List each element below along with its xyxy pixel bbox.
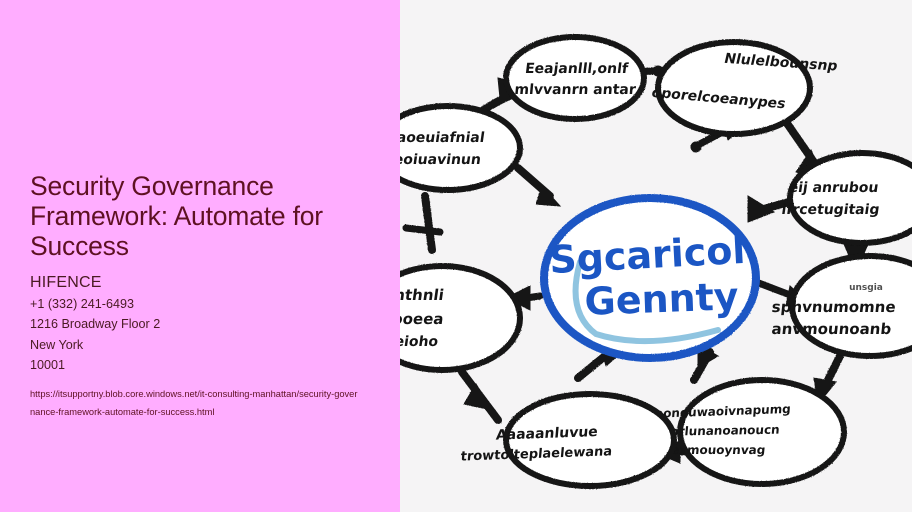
node-left-lower-line3: auequeioho bbox=[400, 334, 440, 350]
node-top-left-line2: mlvvanrn antar bbox=[514, 82, 637, 98]
diagram-panel: Sgcaricol Gennty Eeajanlll,onlf mlvvanrn… bbox=[400, 0, 912, 512]
article-url[interactable]: https://itsupportny.blob.core.windows.ne… bbox=[30, 386, 360, 420]
company-city: New York bbox=[30, 335, 392, 355]
article-info-panel: Security Governance Framework: Automate … bbox=[0, 0, 400, 512]
node-right-upper-line2: ifrcetugitaig bbox=[780, 202, 880, 218]
node-left-upper-line1: lauaoeuiafnial bbox=[400, 130, 486, 146]
company-zip: 10001 bbox=[30, 355, 392, 375]
node-right-lower-line3: anvmounoanb bbox=[771, 320, 893, 338]
node-left-lower-line1: Qaonthnli bbox=[400, 286, 445, 304]
node-top-left-shape bbox=[506, 37, 644, 119]
company-name: HIFENCE bbox=[30, 274, 392, 292]
node-bottom-right-line3: sexmouoynvag bbox=[663, 443, 766, 457]
center-node-label-line2: Gennty bbox=[584, 274, 740, 323]
node-left-upper-line2: ymeoiuavinun bbox=[400, 152, 482, 168]
node-right-lower-line2: sphvnumomne bbox=[771, 298, 897, 316]
node-top-left-line1: Eeajanlll,onlf bbox=[524, 61, 630, 77]
company-phone: +1 (332) 241-6493 bbox=[30, 294, 392, 314]
node-right-upper-shape bbox=[790, 153, 912, 243]
cycle-diagram: Sgcaricol Gennty Eeajanlll,onlf mlvvanrn… bbox=[400, 0, 912, 512]
node-left-lower[interactable]: Qaonthnli epneooeea auequeioho bbox=[400, 266, 520, 370]
node-top-left[interactable]: Eeajanlll,onlf mlvvanrn antar bbox=[506, 37, 644, 119]
node-left-lower-line2: epneooeea bbox=[400, 310, 445, 328]
center-node[interactable]: Sgcaricol Gennty bbox=[544, 198, 756, 358]
screenshot-root: Security Governance Framework: Automate … bbox=[0, 0, 912, 512]
page-title: Security Governance Framework: Automate … bbox=[30, 172, 392, 262]
node-right-lower-line1: unsgia bbox=[849, 283, 883, 293]
company-street: 1216 Broadway Floor 2 bbox=[30, 314, 392, 334]
node-right-upper-line1: eij anrubou bbox=[788, 180, 880, 196]
node-left-upper-shape bbox=[400, 106, 520, 190]
node-left-upper[interactable]: lauaoeuiafnial ymeoiuavinun bbox=[400, 106, 520, 190]
article-info-content: Security Governance Framework: Automate … bbox=[30, 172, 392, 430]
